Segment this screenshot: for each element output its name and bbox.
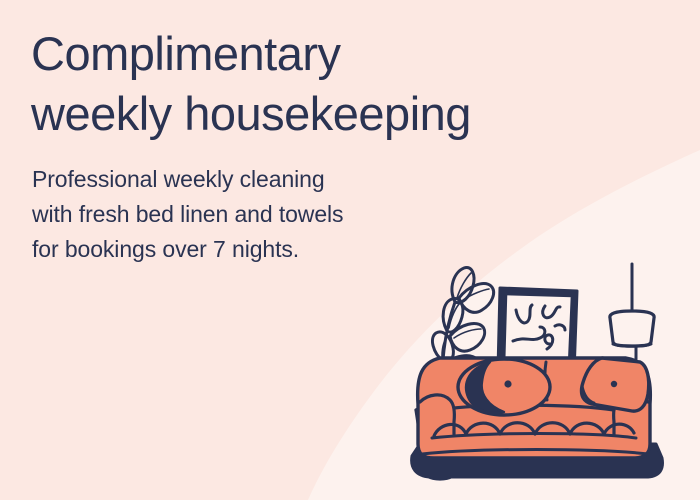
- round-pillow-graphic: [458, 359, 550, 415]
- throw-cushion-graphic: [581, 358, 648, 411]
- living-room-illustration: [398, 258, 688, 498]
- pendant-lamp-graphic: [610, 264, 654, 363]
- page-title: Complimentary weekly housekeeping: [31, 24, 631, 143]
- coral-sofa-graphic: [412, 358, 663, 477]
- promo-card: Complimentary weekly housekeeping Profes…: [0, 0, 700, 500]
- subtitle: Professional weekly cleaning with fresh …: [32, 162, 452, 267]
